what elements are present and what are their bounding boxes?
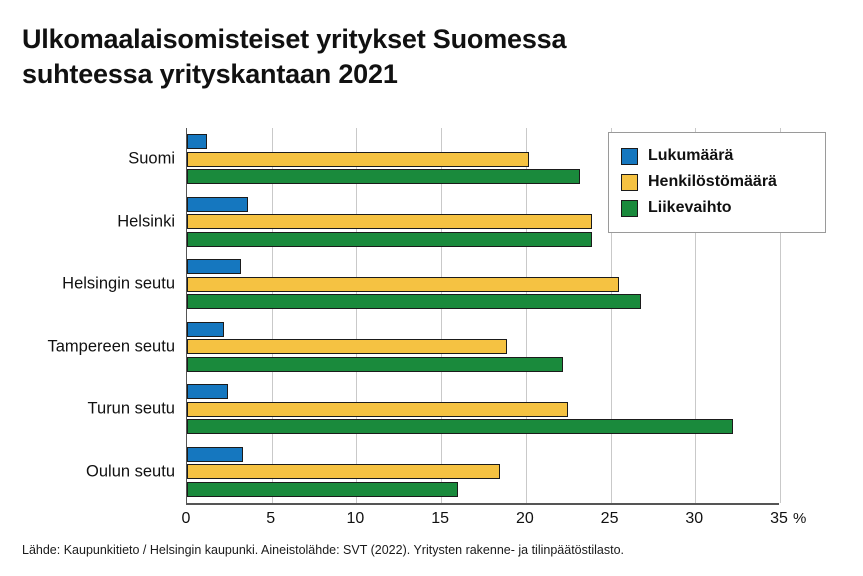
x-axis-line [186, 503, 779, 505]
x-tick-label: 15 [431, 510, 449, 528]
bar [187, 402, 568, 417]
x-tick-label: 35 [770, 510, 788, 528]
x-tick-label: 25 [601, 510, 619, 528]
category-label: Suomi [128, 150, 175, 169]
x-tick-label: 30 [685, 510, 703, 528]
legend-item-henkilostomaara: Henkilöstömäärä [621, 169, 813, 195]
bar [187, 384, 228, 399]
chart-page: Ulkomaalaisomisteiset yritykset Suomessa… [0, 0, 863, 576]
legend-label-liikevaihto: Liikevaihto [648, 199, 732, 217]
category-label: Helsingin seutu [62, 275, 175, 294]
category-label: Tampereen seutu [48, 337, 176, 356]
bar [187, 169, 580, 184]
bar-group: Turun seutu [187, 378, 780, 441]
bar-group: Tampereen seutu [187, 316, 780, 379]
bar-chart: SuomiHelsinkiHelsingin seutuTampereen se… [0, 118, 863, 528]
bar [187, 214, 592, 229]
legend-item-lukumaara: Lukumäärä [621, 143, 813, 169]
bar [187, 482, 458, 497]
bar [187, 259, 241, 274]
x-tick-label: 10 [347, 510, 365, 528]
bar [187, 464, 500, 479]
page-title: Ulkomaalaisomisteiset yritykset Suomessa… [22, 22, 782, 92]
bar [187, 232, 592, 247]
bar [187, 339, 507, 354]
bar [187, 134, 207, 149]
bar [187, 357, 563, 372]
bar [187, 322, 224, 337]
chart-legend: Lukumäärä Henkilöstömäärä Liikevaihto [608, 132, 826, 233]
legend-swatch-henkilostomaara [621, 174, 638, 191]
legend-swatch-lukumaara [621, 148, 638, 165]
legend-label-lukumaara: Lukumäärä [648, 147, 733, 165]
legend-label-henkilostomaara: Henkilöstömäärä [648, 173, 777, 191]
x-axis-unit: % [793, 510, 806, 527]
bar [187, 277, 619, 292]
bar-group: Oulun seutu [187, 441, 780, 504]
category-label: Turun seutu [88, 400, 175, 419]
bar [187, 294, 641, 309]
legend-swatch-liikevaihto [621, 200, 638, 217]
source-note: Lähde: Kaupunkitieto / Helsingin kaupunk… [22, 543, 624, 557]
x-tick-label: 0 [182, 510, 191, 528]
category-label: Helsinki [117, 212, 175, 231]
category-label: Oulun seutu [86, 462, 175, 481]
bar [187, 447, 243, 462]
x-tick-label: 5 [266, 510, 275, 528]
bar-group: Helsingin seutu [187, 253, 780, 316]
bar [187, 197, 248, 212]
legend-item-liikevaihto: Liikevaihto [621, 195, 813, 221]
x-tick-label: 20 [516, 510, 534, 528]
bar [187, 419, 733, 434]
bar [187, 152, 529, 167]
